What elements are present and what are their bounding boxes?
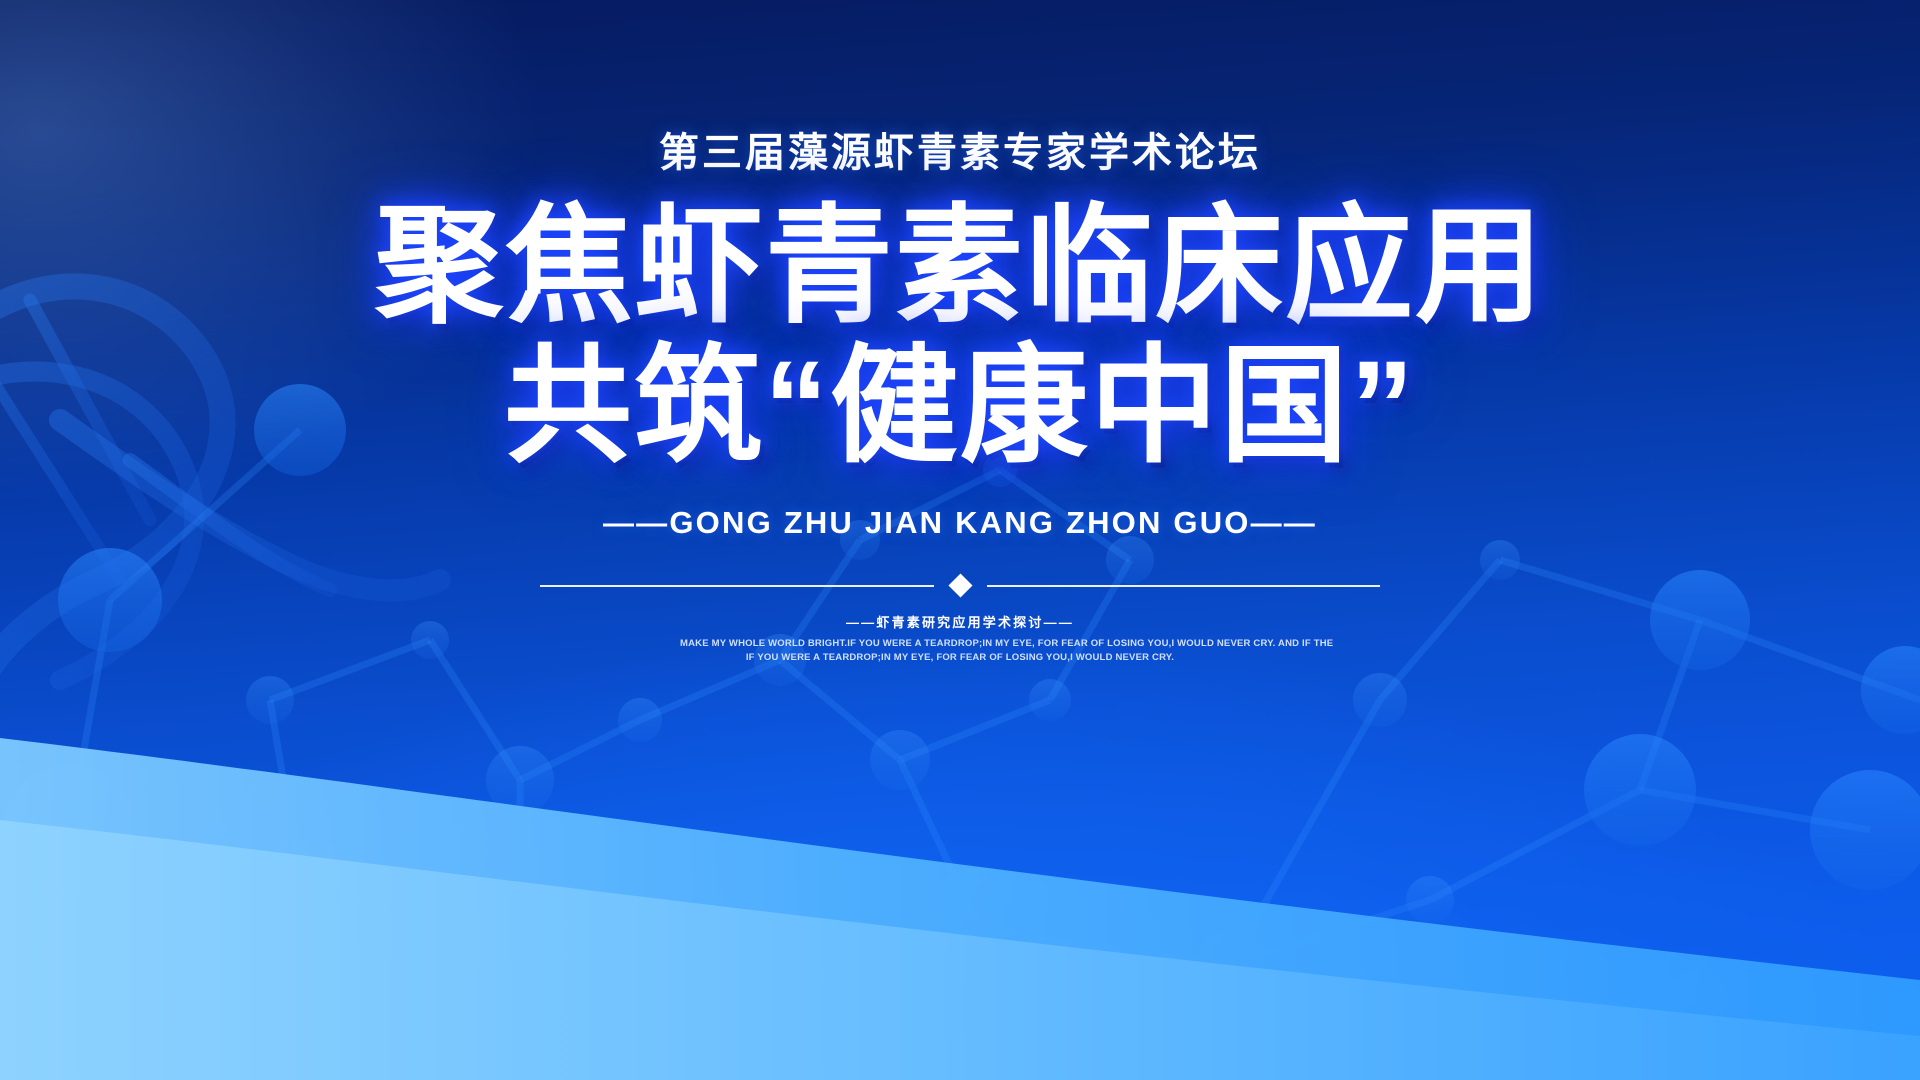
english-paragraph: MAKE MY WHOLE WORLD BRIGHT.IF YOU WERE A…: [680, 637, 1240, 666]
diamond-icon: [948, 573, 972, 597]
divider-line-left: [540, 585, 934, 587]
divider-line-right: [987, 585, 1381, 587]
english-line-1: MAKE MY WHOLE WORLD BRIGHT.IF YOU WERE A…: [680, 637, 1240, 651]
small-caption: ——虾青素研究应用学术探讨——: [846, 612, 1074, 631]
event-subtitle: 第三届藻源虾青素专家学术论坛: [659, 133, 1261, 173]
pinyin-subtitle: ——GONG ZHU JIAN KANG ZHON GUO——: [603, 505, 1317, 541]
poster-canvas: 第三届藻源虾青素专家学术论坛 聚焦虾青素临床应用 共筑“健康中国” ——GONG…: [0, 0, 1920, 1080]
page-title: 聚焦虾青素临床应用 共筑“健康中国”: [375, 203, 1545, 471]
title-line-2: 共筑“健康中国”: [504, 343, 1416, 471]
english-line-2: IF YOU WERE A TEARDROP;IN MY EYE, FOR FE…: [680, 651, 1240, 665]
diamond-separator: [540, 577, 1380, 594]
poster-content: 第三届藻源虾青素专家学术论坛 聚焦虾青素临床应用 共筑“健康中国” ——GONG…: [0, 0, 1920, 1080]
title-line-1: 聚焦虾青素临床应用: [375, 203, 1545, 331]
